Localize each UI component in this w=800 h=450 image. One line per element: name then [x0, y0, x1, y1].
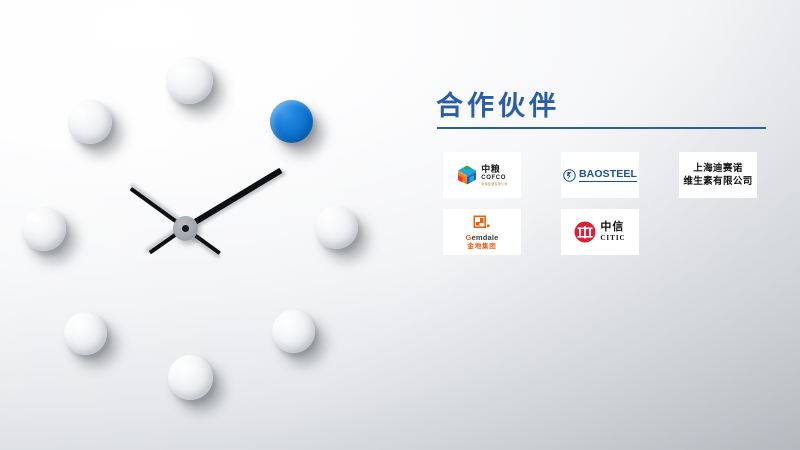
cofco-sub-label: 中粮集团有限公司 [481, 183, 507, 186]
page-title: 合作伙伴 [436, 92, 768, 120]
clock-marker-3 [272, 310, 315, 353]
clock-marker-4 [168, 355, 213, 400]
logo-card-empty-slot [679, 209, 757, 255]
wall-clock [0, 0, 400, 450]
partners-panel: 合作伙伴 [432, 92, 768, 255]
slide-canvas: 合作伙伴 [0, 0, 800, 450]
gemdale-wordmark: Gemdale [465, 234, 498, 242]
logo-card-cofco[interactable]: 中粮 COFCO 中粮集团有限公司 [443, 152, 521, 198]
partner-logo-grid: 中粮 COFCO 中粮集团有限公司 BAOSTEEL [443, 152, 768, 255]
citic-en-label: CITIC [600, 235, 625, 242]
disano-line-2: 维生素有限公司 [683, 175, 752, 189]
gemdale-cn-label: 金地集团 [465, 244, 498, 251]
clock-marker-6 [22, 207, 66, 251]
gemdale-square-icon [473, 215, 490, 232]
baosteel-circle-icon [563, 169, 576, 182]
clock-center-hub [173, 216, 198, 241]
clock-marker-5 [64, 312, 107, 355]
clock-marker-1-highlighted [270, 100, 313, 143]
clock-marker-7 [68, 100, 112, 144]
citic-seal-icon [574, 221, 596, 243]
logo-card-gemdale[interactable]: Gemdale 金地集团 [443, 209, 521, 255]
cofco-cn-label: 中粮 [481, 165, 507, 174]
logo-card-baosteel[interactable]: BAOSTEEL [561, 152, 639, 198]
title-underline-rule [437, 127, 766, 129]
citic-cn-label: 中信 [600, 222, 625, 233]
disano-line-1: 上海迪赛诺 [683, 162, 752, 176]
clock-marker-2 [315, 206, 358, 249]
logo-card-disano[interactable]: 上海迪赛诺 维生素有限公司 [679, 152, 757, 198]
logo-card-citic[interactable]: 中信 CITIC [561, 209, 639, 255]
cofco-cube-icon [456, 164, 478, 186]
gemdale-wordmark-rest: emdale [471, 233, 498, 242]
baosteel-wordmark: BAOSTEEL [579, 169, 637, 182]
cofco-en-label: COFCO [481, 175, 507, 181]
clock-marker-12 [166, 57, 213, 104]
